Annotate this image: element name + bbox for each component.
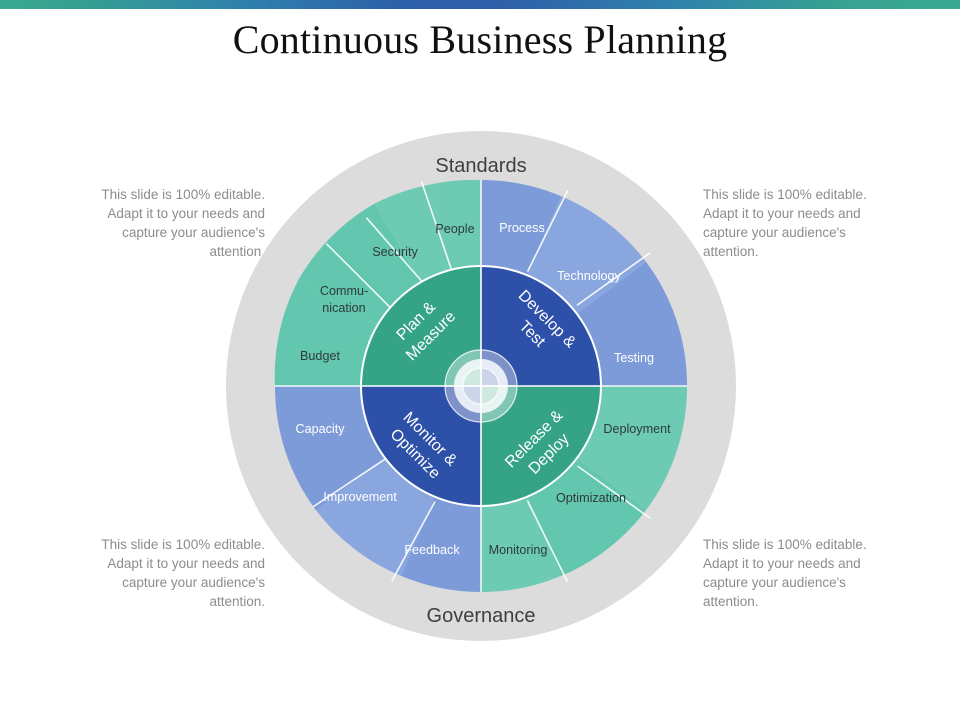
label-budget: Budget bbox=[300, 349, 340, 363]
label-monitoring: Monitoring bbox=[489, 543, 548, 557]
label-process: Process bbox=[499, 221, 545, 235]
label-feedback: Feedback bbox=[404, 543, 460, 557]
label-communication-line1: Commu- bbox=[320, 284, 368, 298]
label-deployment: Deployment bbox=[603, 422, 671, 436]
page-title: Continuous Business Planning bbox=[0, 16, 960, 64]
label-people: People bbox=[435, 222, 474, 236]
label-improvement: Improvement bbox=[323, 490, 397, 504]
continuous-planning-wheel: Standards Governance People Security Com… bbox=[225, 130, 737, 642]
outer-label-governance: Governance bbox=[427, 605, 536, 627]
label-capacity: Capacity bbox=[296, 422, 346, 436]
label-security: Security bbox=[372, 245, 418, 259]
label-optimization: Optimization bbox=[556, 491, 626, 505]
label-communication-line2: nication bbox=[322, 301, 365, 315]
outer-label-standards: Standards bbox=[435, 155, 526, 177]
label-testing: Testing bbox=[614, 351, 654, 365]
top-accent-bar bbox=[0, 0, 960, 9]
label-technology: Technology bbox=[557, 269, 621, 283]
